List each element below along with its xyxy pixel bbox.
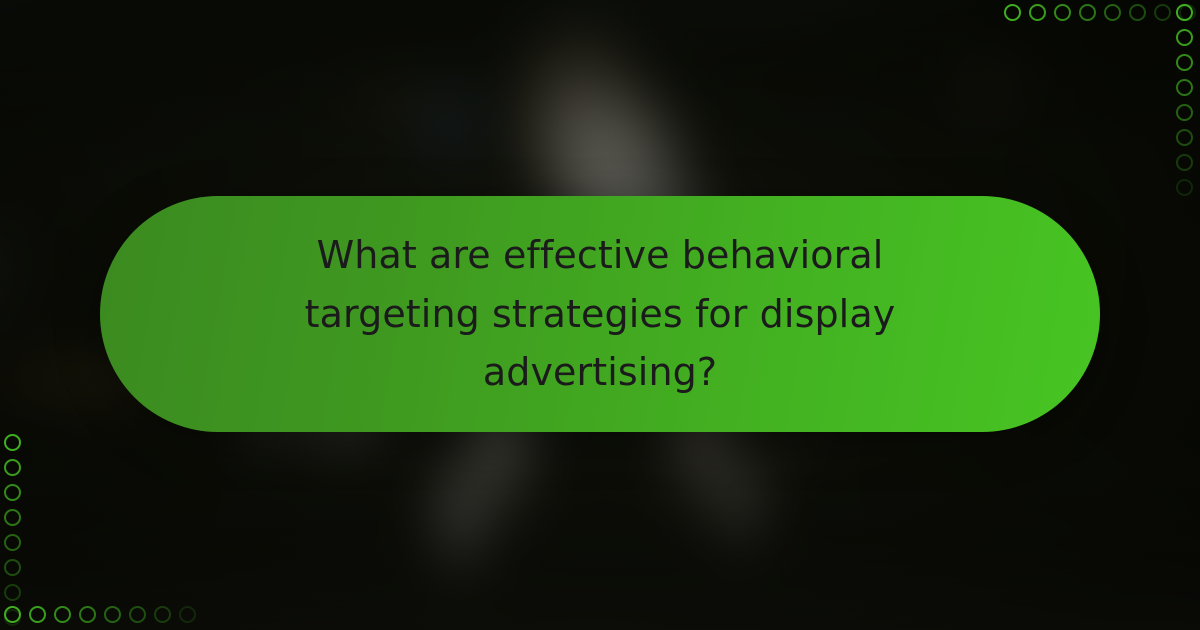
decor-circle xyxy=(4,509,21,526)
decor-circle xyxy=(29,606,46,623)
decor-circle xyxy=(1176,104,1193,121)
decor-circle xyxy=(1176,154,1193,171)
social-card-canvas: What are effective behavioral targeting … xyxy=(0,0,1200,630)
decor-circle xyxy=(4,459,21,476)
decor-circle xyxy=(4,584,21,601)
decor-circle xyxy=(54,606,71,623)
decor-circle xyxy=(1079,4,1096,21)
decor-circle xyxy=(104,606,121,623)
decor-circle xyxy=(1054,4,1071,21)
decor-dots-left-column xyxy=(4,416,24,626)
decor-circle xyxy=(4,559,21,576)
decor-circle xyxy=(1004,4,1021,21)
decor-circle xyxy=(79,606,96,623)
decor-circle xyxy=(1129,4,1146,21)
decor-circle xyxy=(1176,129,1193,146)
decor-circle xyxy=(1176,4,1193,21)
decor-dots-right-column xyxy=(1176,4,1196,214)
decor-circle xyxy=(1176,29,1193,46)
question-card: What are effective behavioral targeting … xyxy=(100,196,1100,432)
decor-circle xyxy=(1104,4,1121,21)
decor-dots-top-right xyxy=(986,4,1196,24)
decor-circle xyxy=(1176,79,1193,96)
decor-circle xyxy=(179,606,196,623)
decor-circle xyxy=(4,484,21,501)
decor-circle xyxy=(154,606,171,623)
decor-circle xyxy=(4,434,21,451)
decor-dots-bottom-row xyxy=(4,606,214,626)
decor-circle xyxy=(129,606,146,623)
decor-circle xyxy=(4,606,21,623)
decor-circle xyxy=(1176,179,1193,196)
decor-circle xyxy=(1176,54,1193,71)
decor-circle xyxy=(4,534,21,551)
decor-circle xyxy=(1029,4,1046,21)
decor-circle xyxy=(1154,4,1171,21)
question-text: What are effective behavioral targeting … xyxy=(250,226,950,403)
